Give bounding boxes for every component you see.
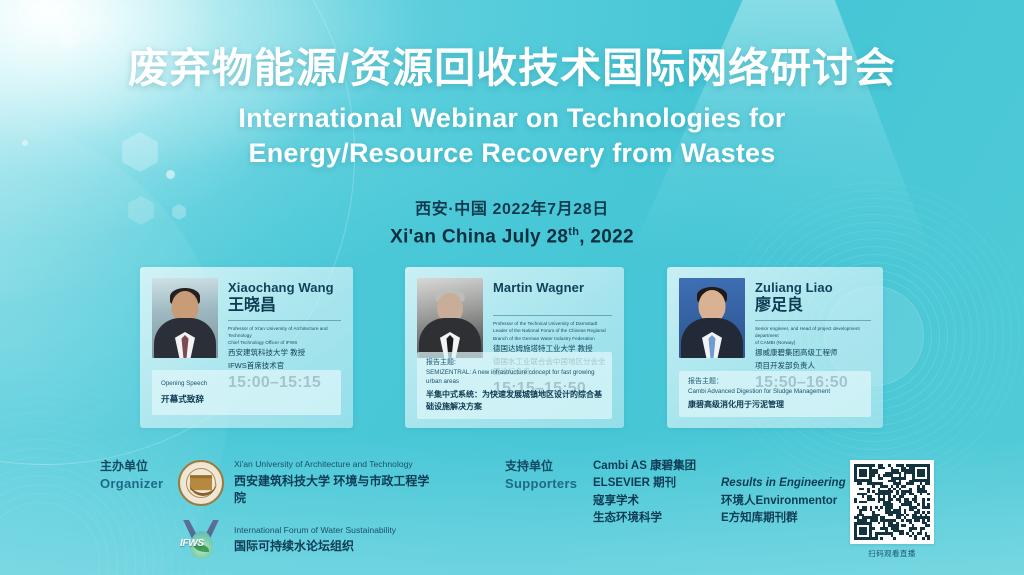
speaker-topic-label: 报告主题:: [426, 358, 603, 367]
qr-section[interactable]: 扫码观看直播: [842, 460, 942, 559]
divider: [755, 320, 871, 321]
event-date-cn: 西安·中国 2022年7月28日: [0, 195, 1024, 219]
poster-header: 废弃物能源/资源回收技术国际网络研讨会 International Webina…: [0, 44, 1024, 248]
speaker-role-en-line2: of CAMBI (Norway): [755, 339, 871, 346]
supporter-name: 生态环境科学: [593, 510, 711, 527]
speaker-name-en: Martin Wagner: [493, 280, 612, 295]
qr-code[interactable]: [850, 460, 934, 544]
avatar: [679, 278, 745, 358]
divider: [228, 320, 341, 321]
speaker-topic-box: 报告主题： Cambi Advanced Digestion for Sludg…: [679, 371, 871, 417]
speaker-role-en-line1: Professor of Xi'an University of Archite…: [228, 325, 341, 339]
supporters-label-cn: 支持单位: [505, 458, 579, 475]
speaker-topic-cn: 半集中式系统：为快速发展城镇地区设计的综合基础设施解决方案: [426, 389, 603, 412]
xauat-seal-logo: [178, 460, 224, 506]
qr-caption: 扫码观看直播: [842, 548, 942, 559]
supporter-row: ELSEVIER 期刊 Results in Engineering: [593, 475, 846, 492]
supporter-row: 生态环境科学 E方知库期刊群: [593, 510, 846, 527]
speaker-name-en: Zuliang Liao: [755, 280, 871, 295]
supporter-name: 寇享学术: [593, 493, 711, 510]
speaker-role-en-line2: Leader of the National Forum of the Chin…: [493, 327, 612, 334]
organizer-item: Xi'an University of Architecture and Tec…: [178, 458, 440, 508]
speaker-topic-en: Cambi Advanced Digestion for Sludge Mana…: [688, 388, 862, 397]
speaker-role-cn-line1: 挪威康碧集团高级工程师: [755, 348, 871, 359]
event-date-en-pre: Xi'an China July 28: [390, 226, 568, 247]
speaker-topic-en: SEMIZENTRAL: A new infrastructure concep…: [426, 369, 603, 387]
speaker-topic-cn: 康碧高级消化用于污泥管理: [688, 399, 862, 410]
speaker-role-en-line3: Branch of the German Water Industry Fede…: [493, 335, 612, 342]
speaker-topic-label: 报告主题：: [688, 377, 862, 386]
page-title-cn: 废弃物能源/资源回收技术国际网络研讨会: [0, 44, 1024, 92]
supporter-row: 寇享学术 环境人Environmentor: [593, 493, 846, 510]
event-date-en: Xi'an China July 28th, 2022: [0, 226, 1024, 248]
speaker-topic-box: 报告主题: SEMIZENTRAL: A new infrastructure …: [417, 352, 612, 419]
speaker-topic-cn: 开幕式致辞: [161, 393, 332, 405]
speaker-role-cn-line1: 西安建筑科技大学 教授: [228, 348, 341, 359]
ifws-logo: IFWS: [178, 517, 224, 563]
speaker-card[interactable]: Zuliang Liao 廖足良 Senior engineer, and He…: [667, 267, 883, 428]
supporter-name-secondary: Results in Engineering: [721, 475, 846, 492]
poster-footer: 主办单位 Organizer Xi'an University of Archi…: [0, 452, 1024, 562]
supporters-label-en: Supporters: [505, 475, 579, 494]
speaker-role-en-line1: Senior engineer, and Head of project dev…: [755, 325, 871, 339]
speaker-card-list: Xiaochang Wang 王晓昌 Professor of Xi'an Un…: [0, 267, 1024, 432]
speaker-name-cn: 王晓昌: [228, 296, 341, 315]
supporter-row: Cambi AS 康碧集团: [593, 458, 846, 475]
organizer-name-en: International Forum of Water Sustainabil…: [234, 524, 396, 537]
divider: [493, 315, 612, 316]
organizer-name-en: Xi'an University of Architecture and Tec…: [234, 458, 440, 471]
speaker-name-cn: 廖足良: [755, 296, 871, 315]
organizer-name-cn: 西安建筑科技大学 环境与市政工程学院: [234, 473, 440, 508]
ifws-logo-text: IFWS: [180, 538, 204, 549]
qr-code-pattern: [854, 464, 930, 540]
organizer-section: 主办单位 Organizer Xi'an University of Archi…: [100, 458, 440, 563]
avatar: [152, 278, 218, 358]
event-date-ordinal: th: [568, 226, 579, 238]
organizer-item-text: Xi'an University of Architecture and Tec…: [234, 458, 440, 508]
speaker-card[interactable]: Martin Wagner Professor of the Technical…: [405, 267, 624, 428]
speaker-role-en-line1: Professor of the Technical University of…: [493, 320, 612, 327]
speaker-name-en: Xiaochang Wang: [228, 280, 341, 295]
page-title-en: International Webinar on Technologies fo…: [0, 101, 1024, 171]
avatar: [417, 278, 483, 358]
organizer-name-cn: 国际可持续水论坛组织: [234, 538, 396, 555]
supporters-list: Cambi AS 康碧集团 ELSEVIER 期刊 Results in Eng…: [593, 458, 846, 527]
organizer-label: 主办单位 Organizer: [100, 458, 176, 494]
speaker-role-en-line2: Chief Technology Officer of IFWS: [228, 339, 341, 346]
speaker-role-cn-line2: 项目开发部负责人: [755, 361, 871, 372]
speaker-topic-en: Opening Speech: [161, 380, 332, 389]
supporter-name-secondary: 环境人Environmentor: [721, 493, 837, 510]
supporters-label: 支持单位 Supporters: [505, 458, 579, 527]
event-date-en-post: , 2022: [579, 226, 634, 247]
speaker-card[interactable]: Xiaochang Wang 王晓昌 Professor of Xi'an Un…: [140, 267, 353, 428]
supporters-section: 支持单位 Supporters Cambi AS 康碧集团 ELSEVIER 期…: [505, 458, 846, 527]
seal-arc-icon: [189, 482, 217, 496]
supporter-name-secondary: E方知库期刊群: [721, 510, 798, 527]
organizer-label-en: Organizer: [100, 475, 176, 494]
organizer-item: IFWS International Forum of Water Sustai…: [178, 517, 440, 563]
organizer-label-cn: 主办单位: [100, 458, 176, 475]
supporter-name: ELSEVIER 期刊: [593, 475, 711, 492]
speaker-topic-box: Opening Speech 开幕式致辞: [152, 370, 341, 415]
page-title-en-line1: International Webinar on Technologies fo…: [0, 101, 1024, 136]
supporter-name: Cambi AS 康碧集团: [593, 458, 711, 475]
organizer-item-text: International Forum of Water Sustainabil…: [234, 524, 396, 556]
page-title-en-line2: Energy/Resource Recovery from Wastes: [0, 136, 1024, 171]
